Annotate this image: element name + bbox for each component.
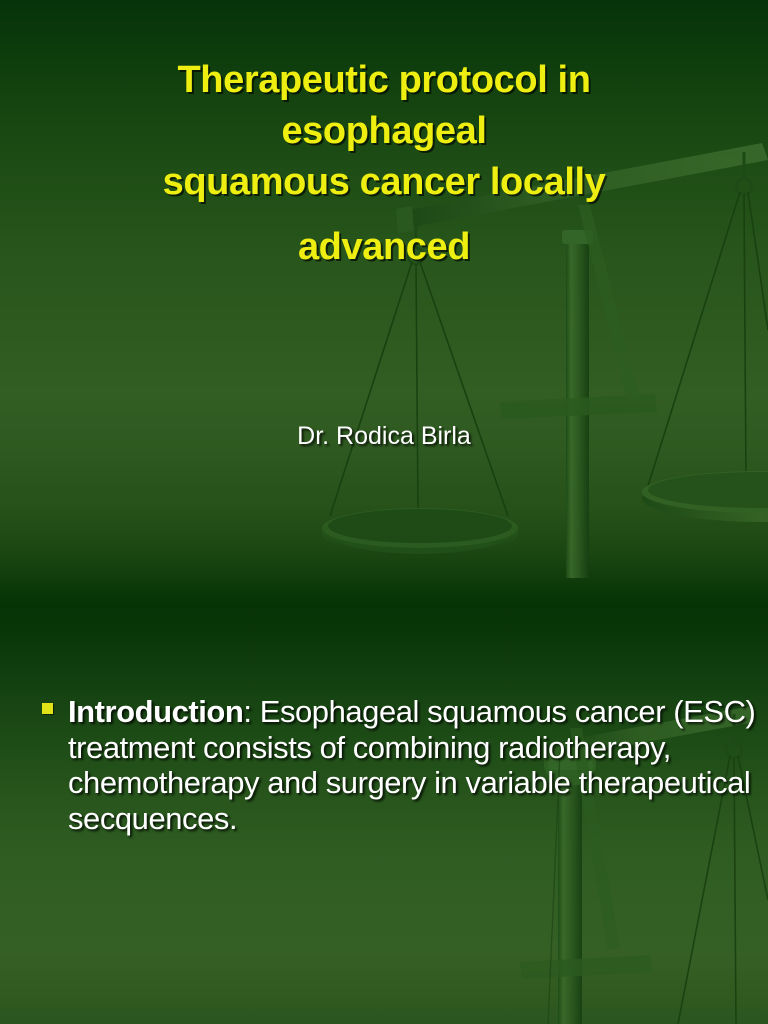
bullet-list-item: Introduction: Esophageal squamous cancer… — [41, 694, 763, 836]
author-name: Dr. Rodica Birla — [0, 420, 768, 452]
title-line-4: advanced — [0, 222, 768, 273]
bullet-separator: : — [243, 694, 259, 729]
bullet-text: Introduction: Esophageal squamous cancer… — [68, 694, 763, 836]
title-line-3: squamous cancer locally — [0, 157, 768, 208]
slide-title: Therapeutic protocol in esophageal squam… — [0, 55, 768, 273]
slide-body: Introduction: Esophageal squamous cancer… — [41, 694, 763, 836]
square-bullet-icon — [42, 703, 53, 714]
presentation-slide: Therapeutic protocol in esophageal squam… — [0, 0, 768, 1024]
title-line-1: Therapeutic protocol in — [0, 55, 768, 106]
title-line-2: esophageal — [0, 106, 768, 157]
bullet-label: Introduction — [68, 694, 243, 729]
